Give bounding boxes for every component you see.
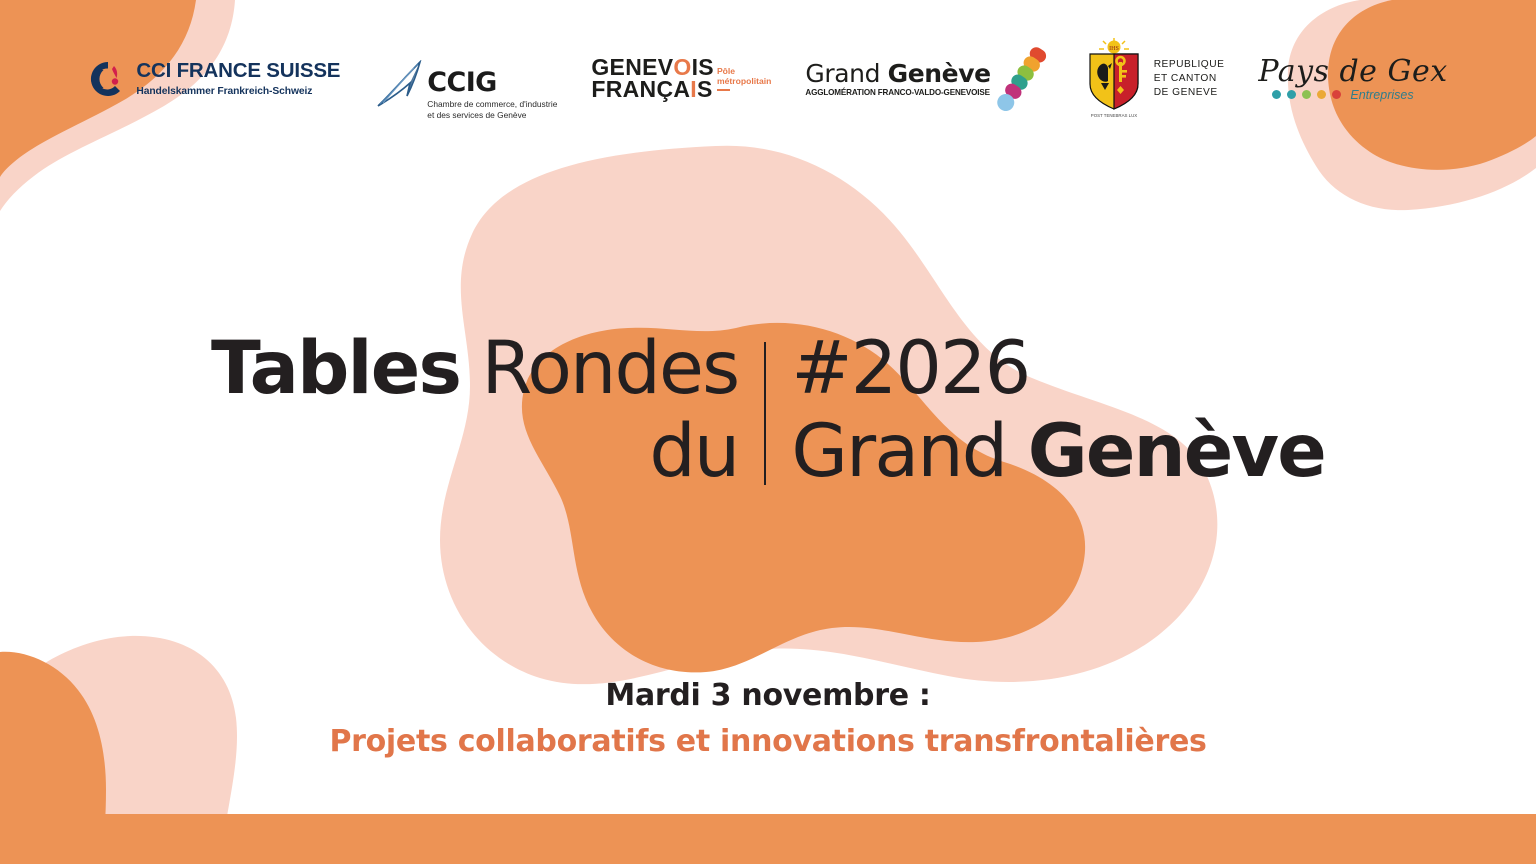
main-title-block: Tables Rondes du #2026 Grand Genève xyxy=(0,330,1536,495)
cci-france-suisse-mark-icon xyxy=(88,59,128,99)
genevois-francais-line2: FRANÇAIS xyxy=(591,79,714,101)
logo-genevois-francais: GENEVOIS FRANÇAIS Pôle métropolitain xyxy=(591,36,771,122)
logo-ccig: CCIG Chambre de commerce, d'industrie et… xyxy=(374,36,557,122)
partner-logo-bar: CCI FRANCE SUISSE Handelskammer Frankrei… xyxy=(0,34,1536,124)
pdg-dot-4 xyxy=(1317,90,1326,99)
gf-side-line2: métropolitain xyxy=(717,77,771,87)
crest-sun-icon: IHS xyxy=(1099,38,1129,54)
logo-republique-canton-geneve: IHS POST TENEBRAS LUX REPUBLIQUE xyxy=(1083,36,1225,122)
pdg-dot-3 xyxy=(1302,90,1311,99)
title-du: du xyxy=(211,409,738,495)
pdg-dot-5 xyxy=(1332,90,1341,99)
title-left-column: Tables Rondes du xyxy=(211,330,738,495)
ccig-arrow-icon xyxy=(374,60,426,122)
title-grand-geneve: Grand Genève xyxy=(791,409,1325,495)
pays-de-gex-script: Pays de Gex xyxy=(1258,57,1447,87)
grand-geneve-ribbon-icon xyxy=(993,41,1049,117)
ccig-subtitle-line2: et des services de Genève xyxy=(427,110,526,120)
bottom-orange-bar xyxy=(0,814,1536,864)
title-vertical-divider xyxy=(764,342,766,485)
caption-block: Mardi 3 novembre : Projets collaboratifs… xyxy=(0,674,1536,766)
ccig-title: CCIG xyxy=(427,69,557,96)
caption-theme: Projets collaboratifs et innovations tra… xyxy=(0,718,1536,766)
ccig-subtitle-line1: Chambre de commerce, d'industrie xyxy=(427,99,557,109)
rcg-line2: ET CANTON xyxy=(1154,72,1225,86)
pdg-dot-2 xyxy=(1287,90,1296,99)
geneva-motto: POST TENEBRAS LUX xyxy=(1090,113,1137,118)
rcg-line3: DE GENEVE xyxy=(1154,86,1225,100)
genevois-francais-pole-metropolitain: Pôle métropolitain xyxy=(717,67,771,91)
title-tables-rondes: Tables Rondes xyxy=(211,330,738,409)
republique-canton-geneve-text: REPUBLIQUE ET CANTON DE GENEVE xyxy=(1154,58,1225,99)
grand-geneve-title: Grand Genève xyxy=(805,61,990,86)
title-right-column: #2026 Grand Genève xyxy=(791,330,1325,495)
pdg-dot-1 xyxy=(1272,90,1281,99)
gf-underline-rule xyxy=(717,89,730,91)
logo-cci-france-suisse: CCI FRANCE SUISSE Handelskammer Frankrei… xyxy=(88,36,340,122)
svg-text:IHS: IHS xyxy=(1109,46,1119,52)
cci-france-suisse-subtitle: Handelskammer Frankreich-Schweiz xyxy=(136,87,340,97)
event-poster-slide: CCI FRANCE SUISSE Handelskammer Frankrei… xyxy=(0,0,1536,864)
logo-grand-geneve: Grand Genève AGGLOMÉRATION FRANCO-VALDO-… xyxy=(805,36,1048,122)
pays-de-gex-dots-row: Entreprises xyxy=(1258,88,1447,102)
geneva-coat-of-arms-icon: IHS POST TENEBRAS LUX xyxy=(1083,38,1145,120)
title-hashtag-2026: #2026 xyxy=(791,330,1325,409)
cci-france-suisse-title: CCI FRANCE SUISSE xyxy=(136,61,340,82)
caption-date: Mardi 3 novembre : xyxy=(0,674,1536,718)
grand-geneve-subtitle: AGGLOMÉRATION FRANCO-VALDO-GENEVOISE xyxy=(805,89,990,97)
logo-pays-de-gex-entreprises: Pays de Gex Entreprises xyxy=(1258,36,1447,122)
rcg-line1: REPUBLIQUE xyxy=(1154,58,1225,72)
pays-de-gex-suffix: Entreprises xyxy=(1350,88,1413,102)
